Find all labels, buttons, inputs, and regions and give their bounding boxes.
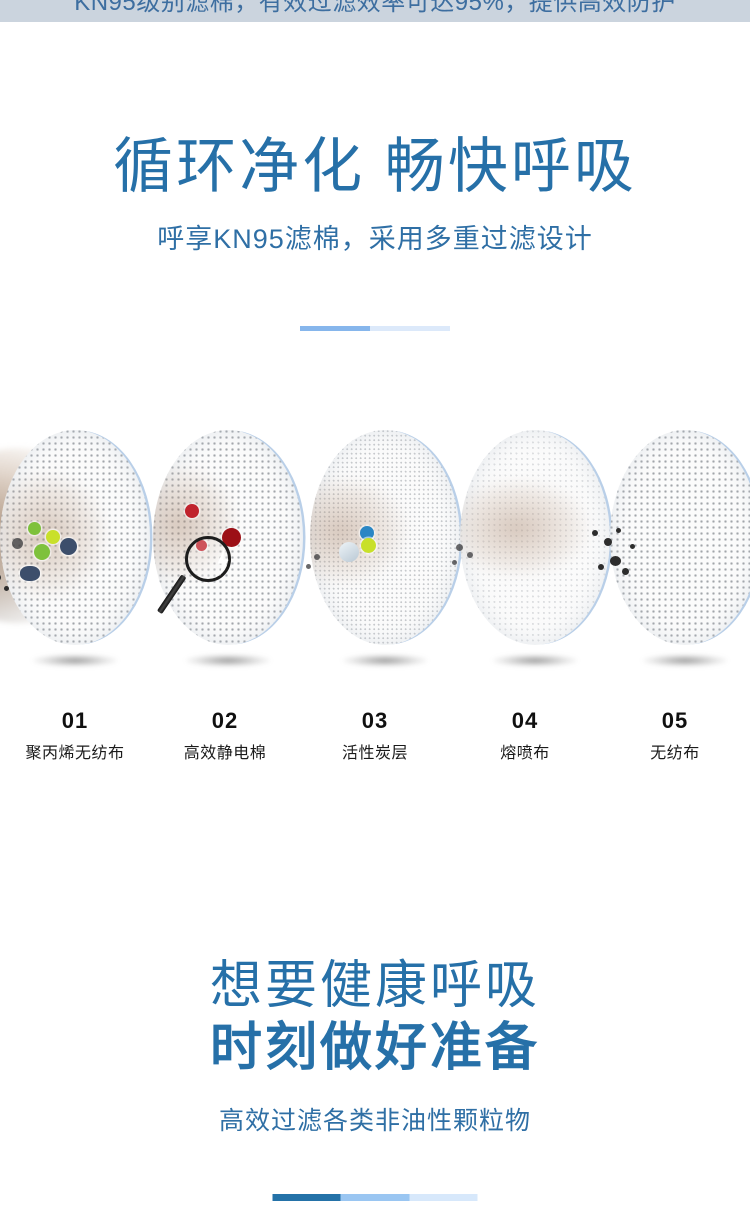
dust-speck-icon	[610, 556, 621, 566]
dust-speck-icon	[12, 538, 23, 549]
disc-shadow	[342, 654, 428, 667]
mesh-disc-icon	[0, 430, 150, 645]
closing-headline-line-1: 想要健康呼吸	[0, 955, 750, 1017]
magnifier-lens	[185, 536, 231, 582]
disc-shadow	[32, 654, 118, 667]
particle-icon	[185, 504, 199, 518]
filter-layer-caption-04: 04 熔喷布	[450, 706, 600, 766]
filter-layer-caption-02: 02 高效静电棉	[150, 706, 300, 766]
layer-label: 无纺布	[600, 742, 750, 766]
layer-number: 03	[300, 706, 450, 736]
mesh-disc-icon	[460, 430, 610, 645]
divider-bottom-segment-3	[409, 1194, 477, 1201]
divider-top	[300, 326, 450, 331]
filter-layer-captions: 01 聚丙烯无纺布 02 高效静电棉 03 活性炭层 04 熔喷布 05 无纺布	[0, 706, 750, 766]
particle-icon	[28, 522, 41, 535]
particle-icon	[20, 566, 40, 581]
dust-speck-icon	[452, 560, 457, 565]
dust-speck-icon	[467, 552, 473, 558]
divider-bottom-segment-2	[341, 1194, 409, 1201]
dust-speck-icon	[314, 554, 320, 560]
disc-shadow	[185, 654, 271, 667]
filter-layer-05-graphic	[600, 418, 750, 673]
filter-layer-03-graphic	[300, 418, 475, 673]
particle-icon	[34, 544, 50, 560]
closing-tagline: 高效过滤各类非油性颗粒物	[0, 1103, 750, 1139]
layer-number: 02	[150, 706, 300, 736]
dust-speck-icon	[604, 538, 612, 546]
top-clipped-banner: KN95级别滤棉，有效过滤效率可达95%，提供高效防护	[0, 0, 750, 22]
dust-speck-icon	[4, 586, 9, 591]
layer-label: 聚丙烯无纺布	[0, 742, 150, 766]
dust-speck-icon	[622, 568, 629, 575]
droplet-icon	[339, 542, 359, 562]
hero-section: 循环净化 畅快呼吸 呼享KN95滤棉，采用多重过滤设计	[0, 130, 750, 258]
filter-layer-caption-03: 03 活性炭层	[300, 706, 450, 766]
mesh-disc-icon	[610, 430, 750, 645]
layer-label: 活性炭层	[300, 742, 450, 766]
particle-icon	[46, 530, 60, 544]
layer-label: 熔喷布	[450, 742, 600, 766]
layer-number: 01	[0, 706, 150, 736]
layer-label: 高效静电棉	[150, 742, 300, 766]
top-banner-text: KN95级别滤棉，有效过滤效率可达95%，提供高效防护	[74, 0, 676, 17]
page-title: 循环净化 畅快呼吸	[0, 130, 750, 204]
dust-speck-icon	[598, 564, 604, 570]
dust-speck-icon	[456, 544, 463, 551]
mesh-disc-icon	[310, 430, 460, 645]
particle-icon	[60, 538, 77, 555]
magnifier-icon	[173, 536, 231, 624]
divider-top-segment-1	[300, 326, 370, 331]
layer-number: 04	[450, 706, 600, 736]
dust-speck-icon	[306, 564, 311, 569]
layer-number: 05	[600, 706, 750, 736]
filter-layers-illustration	[0, 418, 750, 686]
filter-layer-02-graphic	[143, 418, 318, 673]
dust-speck-icon	[616, 528, 621, 533]
closing-section: 想要健康呼吸 时刻做好准备 高效过滤各类非油性颗粒物	[0, 955, 750, 1139]
particle-icon	[361, 538, 376, 553]
filter-layer-caption-01: 01 聚丙烯无纺布	[0, 706, 150, 766]
filter-layer-caption-05: 05 无纺布	[600, 706, 750, 766]
page-subtitle: 呼享KN95滤棉，采用多重过滤设计	[0, 220, 750, 258]
disc-shadow	[642, 654, 728, 667]
filter-layer-01-graphic	[0, 418, 165, 673]
divider-bottom	[273, 1194, 478, 1201]
dust-speck-icon	[592, 530, 598, 536]
divider-bottom-segment-1	[273, 1194, 341, 1201]
closing-headline-line-2: 时刻做好准备	[0, 1017, 750, 1079]
lightning-bolt-icon	[215, 548, 231, 576]
dust-speck-icon	[630, 544, 635, 549]
divider-top-segment-2	[370, 326, 450, 331]
disc-shadow	[492, 654, 578, 667]
filter-layer-04-graphic	[450, 418, 625, 673]
